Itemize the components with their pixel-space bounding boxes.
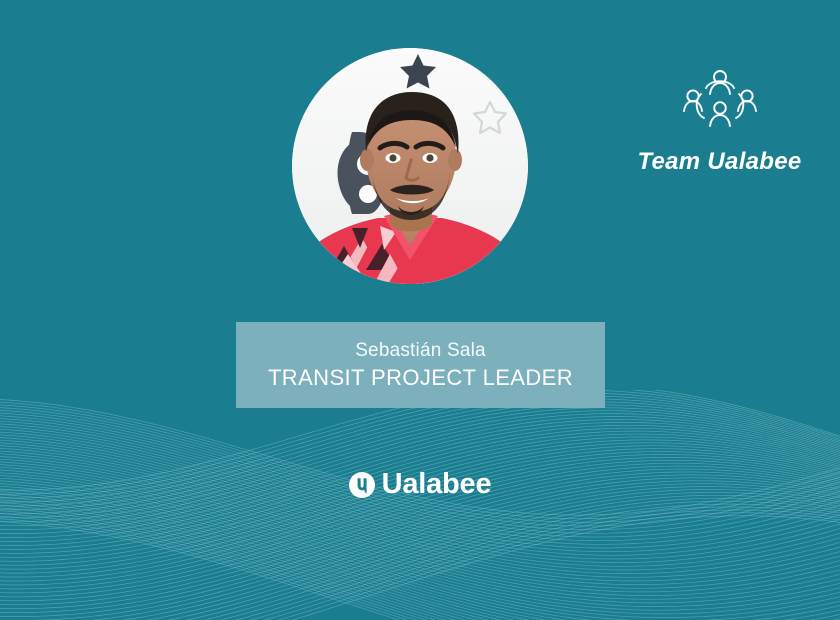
wave-line	[0, 516, 840, 620]
wave-line	[0, 501, 840, 620]
wave-line	[0, 487, 840, 620]
wave-line	[0, 440, 840, 570]
wave-line	[0, 443, 840, 569]
wave-line	[0, 513, 840, 620]
wave-line	[0, 513, 840, 620]
team-block: Team Ualabee	[617, 68, 822, 176]
wave-line	[0, 510, 840, 620]
ualabee-logo-mark	[349, 472, 375, 498]
team-group-icon	[682, 68, 758, 130]
wave-line	[0, 505, 840, 620]
wave-line	[0, 405, 840, 523]
wave-line	[0, 443, 840, 574]
wave-line	[0, 508, 840, 620]
member-name: Sebastián Sala	[355, 339, 486, 363]
wave-line	[0, 522, 840, 620]
member-portrait	[292, 48, 528, 284]
wave-line	[0, 408, 840, 522]
wave-line	[0, 484, 840, 620]
wave-line	[0, 507, 840, 620]
wave-line	[0, 504, 840, 620]
wave-line	[0, 500, 840, 620]
wave-line	[0, 446, 840, 573]
wave-line	[0, 511, 840, 620]
wave-line	[0, 440, 840, 565]
wave-line	[0, 405, 840, 518]
wave-line	[0, 438, 840, 567]
wave-line	[0, 495, 840, 620]
wave-line	[0, 408, 840, 526]
wave-line	[0, 503, 840, 620]
name-banner: Sebastián Sala TRANSIT PROJECT LEADER	[236, 322, 605, 408]
brand-logo: Ualabee	[0, 470, 840, 499]
wave-line	[0, 519, 840, 620]
wave-line	[0, 486, 840, 620]
wave-lines-pattern	[0, 390, 840, 620]
team-label: Team Ualabee	[617, 148, 822, 176]
portrait-illustration	[292, 48, 528, 284]
wave-line	[0, 481, 840, 620]
wave-line	[0, 494, 840, 620]
member-role: TRANSIT PROJECT LEADER	[268, 364, 573, 392]
wave-line	[0, 497, 840, 620]
wave-line	[0, 492, 840, 620]
wave-line	[0, 402, 840, 519]
wave-line	[0, 489, 840, 620]
brand-wordmark: Ualabee	[382, 470, 492, 499]
wave-line	[0, 492, 840, 620]
wave-line	[0, 498, 840, 620]
wave-line	[0, 516, 840, 620]
wave-line	[0, 481, 840, 620]
wave-line	[0, 484, 840, 620]
team-member-card: Sebastián Sala TRANSIT PROJECT LEADER Te…	[0, 0, 840, 620]
wave-line	[0, 490, 840, 620]
wave-line	[0, 446, 840, 578]
